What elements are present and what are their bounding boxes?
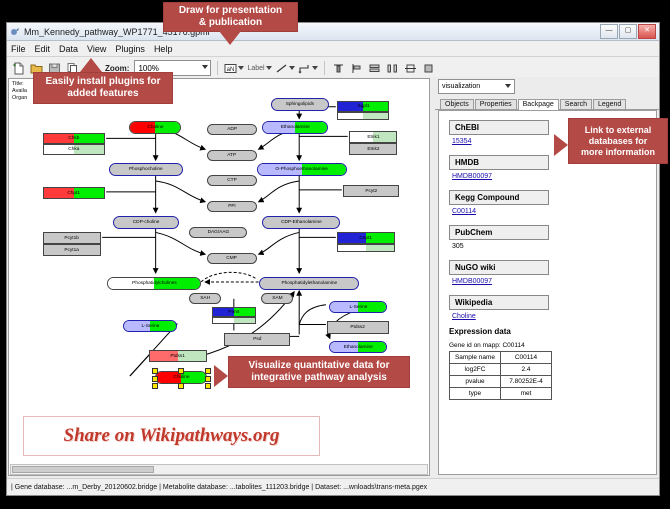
node-label: PPi: [228, 204, 235, 209]
node-atp[interactable]: ATP: [207, 150, 257, 161]
share-banner: Share on Wikipathways.org: [23, 416, 320, 456]
node-label: CMP: [227, 256, 238, 261]
node-adp[interactable]: ADP: [207, 124, 257, 135]
node-sam[interactable]: SAM: [261, 293, 293, 304]
cell-value: C00114: [501, 352, 552, 364]
node-cdp-choline[interactable]: CDP-choline: [113, 216, 179, 229]
resize-handle-ne[interactable]: [205, 368, 211, 374]
table-row: log2FC 2.4: [450, 364, 552, 376]
node-pcyt1a[interactable]: Pcyt1a: [43, 244, 101, 256]
node-label: Chpt1: [68, 191, 81, 196]
callout-plugins-arrow-icon: [80, 58, 102, 72]
close-button[interactable]: ✕: [638, 24, 656, 39]
tab-objects[interactable]: Objects: [440, 99, 474, 109]
visualization-combobox[interactable]: visualization: [438, 79, 515, 94]
cell-value: 2.4: [501, 364, 552, 376]
expression-table: Sample name C00114 log2FC 2.4 pvalue 7.8…: [449, 351, 552, 400]
window-controls: — ▢ ✕: [600, 24, 656, 39]
node-label: Ptdss2: [351, 325, 366, 330]
node-label: Pcyt1b: [65, 236, 80, 241]
status-bar-text: | Gene database: ...m_Derby_20120602.bri…: [11, 484, 427, 491]
datanode-tool[interactable]: aN: [224, 63, 244, 74]
callout-visualize-text: Visualize quantitative data forintegrati…: [249, 360, 390, 384]
node-label: DAG/AAG: [207, 230, 229, 235]
chevron-down-icon: [312, 66, 318, 70]
chevron-down-icon: [266, 66, 272, 70]
node-sgpl1[interactable]: Sgpl1: [337, 101, 389, 112]
node-chka[interactable]: Chka: [43, 144, 105, 155]
callout-visualize-arrow-icon: [214, 365, 228, 387]
node-l-serine-2[interactable]: L-Serine: [329, 301, 387, 313]
link-kegg[interactable]: C00114: [452, 208, 656, 215]
link-nugo-wiki[interactable]: HMDB00097: [452, 278, 656, 285]
node-label: L-Serine: [141, 324, 159, 329]
align-top-icon[interactable]: [331, 61, 346, 76]
window-titlebar: Mm_Kennedy_pathway_WP1771_45176.gpml — ▢…: [7, 23, 659, 41]
node-chpt1[interactable]: Chpt1: [43, 187, 105, 199]
node-etnk1[interactable]: Etnk1: [349, 131, 397, 143]
callout-links-text: Link to externaldatabases formore inform…: [581, 125, 655, 158]
node-etnk2[interactable]: Etnk2: [349, 143, 397, 155]
toolbar-separator: [217, 61, 218, 75]
minimize-button[interactable]: —: [600, 24, 618, 39]
table-row: type met: [450, 388, 552, 400]
node-label: Phosphatidylcholines: [132, 281, 177, 286]
resize-handle-n[interactable]: [178, 368, 184, 374]
node-cept1-row2[interactable]: [337, 244, 395, 252]
chevron-down-icon: [505, 84, 511, 88]
gene-id-line: Gene id on mapp: C00114: [449, 342, 656, 349]
menu-item-help[interactable]: Help: [154, 44, 173, 54]
menu-item-file[interactable]: File: [11, 44, 26, 54]
cell-value: 7.80252E-4: [501, 376, 552, 388]
node-chkb[interactable]: Chkb: [43, 133, 105, 144]
node-label: SAM: [272, 296, 282, 301]
cell-label: log2FC: [450, 364, 501, 376]
node-sgpl1-row2[interactable]: [337, 112, 389, 120]
table-row: pvalue 7.80252E-4: [450, 376, 552, 388]
chevron-down-icon: [202, 65, 208, 69]
expression-data-title: Expression data: [449, 327, 656, 336]
node-label: Etnk1: [367, 135, 379, 140]
label-tool-text: Label: [247, 65, 264, 72]
resize-handle-nw[interactable]: [152, 368, 158, 374]
node-label: Choline: [173, 375, 189, 380]
node-psd[interactable]: Psd: [224, 333, 290, 346]
node-cmp[interactable]: CMP: [207, 253, 257, 264]
callout-visualize: Visualize quantitative data forintegrati…: [228, 356, 410, 388]
pathway-title-block: Title: Availa Organ: [12, 81, 27, 102]
cell-label: type: [450, 388, 501, 400]
node-label: L-Serine: [349, 305, 367, 310]
node-cdp-ethanolamine[interactable]: CDP-Ethanolamine: [262, 216, 340, 229]
tab-search[interactable]: Search: [560, 99, 592, 109]
resize-handle-e[interactable]: [205, 376, 211, 382]
node-ethanolamine-1[interactable]: Ethanolamine: [262, 121, 328, 134]
align-left-icon[interactable]: [349, 61, 364, 76]
pathway-organism-label: Organ: [12, 95, 27, 102]
node-label: Sgpl1: [357, 104, 369, 109]
node-label: Chka: [68, 147, 79, 152]
node-label: CDP-choline: [133, 220, 160, 225]
stack-icon[interactable]: [367, 61, 382, 76]
menu-item-data[interactable]: Data: [59, 44, 78, 54]
link-hmdb[interactable]: HMDB00097: [452, 173, 656, 180]
node-label: Phosphatidylethanolamine: [281, 281, 337, 286]
node-label: O-Phosphoethanolamine: [276, 167, 329, 172]
toolbar-separator: [324, 61, 325, 75]
node-label: CDP-Ethanolamine: [281, 220, 322, 225]
node-cept1[interactable]: Cept1: [337, 232, 395, 244]
section-header-nugo-wiki: NuGO wiki: [449, 260, 549, 275]
node-label: Ptdss1: [171, 354, 186, 359]
side-panel-tabs: Objects Properties Backpage Search Legen…: [435, 96, 659, 110]
pathway-title-label: Title:: [12, 81, 27, 88]
node-dag-aag[interactable]: DAG/AAG: [189, 227, 247, 238]
node-label: CTP: [227, 178, 237, 183]
status-bar: | Gene database: ...m_Derby_20120602.bri…: [7, 478, 659, 495]
node-label: Pemt: [228, 310, 239, 315]
common-width-icon[interactable]: [403, 61, 418, 76]
connector-tool[interactable]: [298, 63, 318, 74]
node-label: Pcyt1a: [65, 248, 80, 253]
callout-plugins-text: Easily install plugins foradded features: [45, 76, 160, 100]
node-label: ATP: [228, 153, 237, 158]
app-logo-icon: [10, 27, 20, 37]
node-pemt-row2[interactable]: [212, 317, 256, 324]
section-header-pubchem: PubChem: [449, 225, 549, 240]
resize-handle-s[interactable]: [178, 383, 184, 389]
node-ctp[interactable]: CTP: [207, 175, 257, 186]
node-l-serine-1[interactable]: L-Serine: [123, 320, 177, 332]
callout-draw-arrow-icon: [219, 31, 241, 45]
node-pcyt2[interactable]: Pcyt2: [343, 185, 399, 197]
value-pubchem: 305: [452, 243, 656, 250]
maximize-button[interactable]: ▢: [619, 24, 637, 39]
chevron-down-icon: [238, 66, 244, 70]
node-label: ADP: [227, 127, 237, 132]
callout-links: Link to externaldatabases formore inform…: [568, 118, 668, 164]
node-label: SAH: [200, 296, 210, 301]
node-label: Cept1: [360, 236, 373, 241]
node-sphingolipids[interactable]: Sphingolipids: [271, 98, 329, 111]
cell-label: pvalue: [450, 376, 501, 388]
canvas-horizontal-scrollbar[interactable]: [10, 464, 428, 475]
node-label: Ethanolamine: [343, 345, 372, 350]
line-tool[interactable]: [275, 63, 295, 74]
pathway-canvas[interactable]: Title: Availa Organ: [8, 78, 430, 476]
node-ptdss1[interactable]: Ptdss1: [149, 350, 207, 362]
node-pemt[interactable]: Pemt: [212, 307, 256, 317]
node-choline-top[interactable]: Choline: [129, 121, 181, 134]
menu-item-plugins[interactable]: Plugins: [115, 44, 145, 54]
menu-item-edit[interactable]: Edit: [35, 44, 51, 54]
screenshot-root: Mm_Kennedy_pathway_WP1771_45176.gpml — ▢…: [0, 0, 670, 509]
table-row: Sample name C00114: [450, 352, 552, 364]
callout-plugins: Easily install plugins foradded features: [33, 72, 173, 104]
link-wikipedia[interactable]: Choline: [452, 313, 656, 320]
resize-handle-w[interactable]: [152, 376, 158, 382]
node-label: Psd: [253, 337, 261, 342]
chevron-down-icon: [289, 66, 295, 70]
section-header-chebi: ChEBI: [449, 120, 549, 135]
distribute-icon[interactable]: [385, 61, 400, 76]
node-ptdss2[interactable]: Ptdss2: [327, 321, 389, 334]
node-phosphatidylethanolamine[interactable]: Phosphatidylethanolamine: [259, 277, 359, 290]
node-phosphocholine[interactable]: Phosphocholine: [109, 163, 183, 176]
cell-label: Sample name: [450, 352, 501, 364]
node-pcyt1b[interactable]: Pcyt1b: [43, 232, 101, 244]
section-header-hmdb: HMDB: [449, 155, 549, 170]
pathway-availability-label: Availa: [12, 88, 27, 95]
node-label: Chkb: [68, 136, 79, 141]
section-header-wikipedia: Wikipedia: [449, 295, 549, 310]
cell-value: met: [501, 388, 552, 400]
common-height-icon[interactable]: [421, 61, 436, 76]
node-label: Choline: [147, 125, 163, 130]
menu-item-view[interactable]: View: [87, 44, 106, 54]
node-sah[interactable]: SAH: [189, 293, 221, 304]
visualization-value: visualization: [442, 83, 480, 90]
callout-draw: Draw for presentation& publication: [163, 2, 298, 32]
tab-backpage[interactable]: Backpage: [518, 99, 559, 110]
node-label: Phosphocholine: [129, 167, 163, 172]
node-label: Pcyt2: [365, 189, 377, 194]
tab-legend[interactable]: Legend: [593, 99, 626, 109]
node-label: Sphingolipids: [286, 102, 314, 107]
node-label: Etnk2: [367, 147, 379, 152]
node-ethanolamine-2[interactable]: Ethanolamine: [329, 341, 387, 353]
node-phosphatidylcholines[interactable]: Phosphatidylcholines: [107, 277, 201, 290]
svg-text:aN: aN: [227, 67, 235, 73]
node-label: Ethanolamine: [280, 125, 309, 130]
tab-properties[interactable]: Properties: [475, 99, 517, 109]
menu-bar: File Edit Data View Plugins Help: [7, 41, 659, 57]
node-o-phosphoethanolamine[interactable]: O-Phosphoethanolamine: [257, 163, 347, 176]
resize-handle-sw[interactable]: [152, 383, 158, 389]
backpage-content: ChEBI 15354 HMDB HMDB00097 Kegg Compound…: [438, 110, 657, 475]
scrollbar-thumb[interactable]: [12, 466, 154, 473]
callout-draw-text: Draw for presentation& publication: [179, 5, 282, 29]
new-file-icon[interactable]: [11, 61, 26, 76]
share-banner-text: Share on Wikipathways.org: [64, 425, 280, 447]
label-tool[interactable]: Label: [247, 65, 271, 72]
resize-handle-se[interactable]: [205, 383, 211, 389]
callout-links-arrow-icon: [554, 134, 568, 156]
section-header-kegg-compound: Kegg Compound: [449, 190, 549, 205]
node-ppi[interactable]: PPi: [207, 201, 257, 212]
